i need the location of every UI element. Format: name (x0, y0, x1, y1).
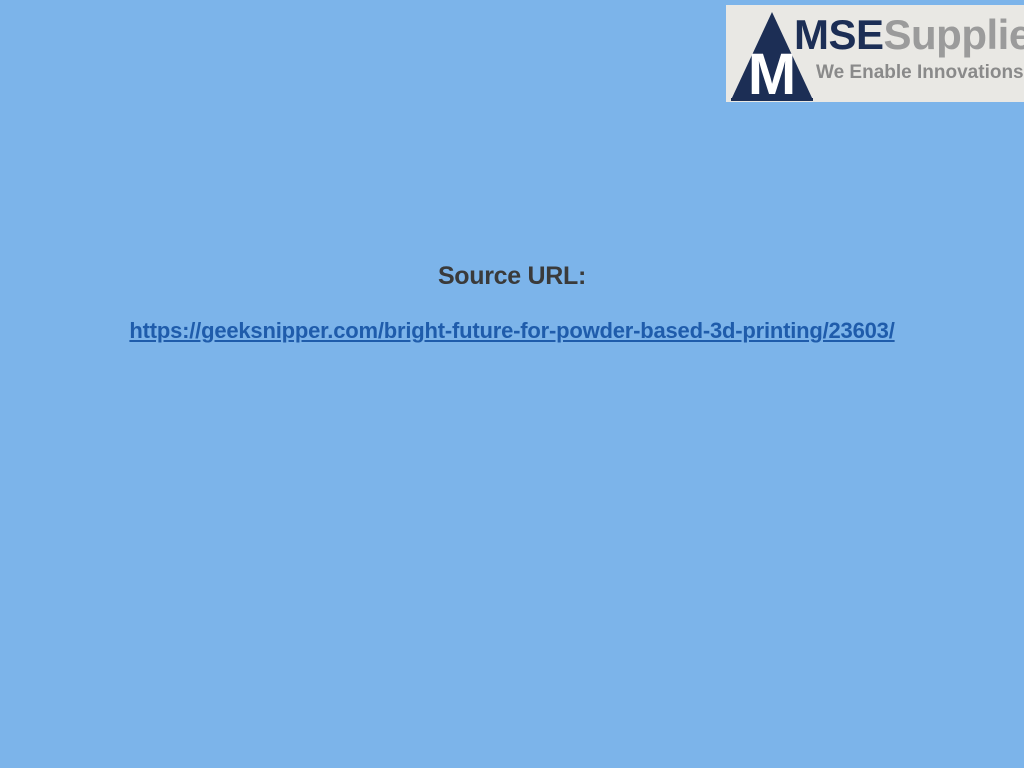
page-title: Source URL: (0, 262, 1024, 291)
source-url-link[interactable]: https://geeksnipper.com/bright-future-fo… (129, 318, 894, 343)
mse-supplies-logo: M MSE Supplies We Enable Innovations (726, 5, 1024, 102)
logo-brand-primary: MSE (794, 11, 884, 59)
logo-wordmark: MSE Supplies (794, 7, 1022, 63)
svg-text:M: M (748, 42, 796, 102)
logo-brand-secondary: Supplies (884, 11, 1024, 59)
source-url-row: https://geeksnipper.com/bright-future-fo… (0, 318, 1024, 344)
slide-canvas: M MSE Supplies We Enable Innovations Sou… (0, 0, 1024, 768)
logo-tagline: We Enable Innovations (816, 62, 1022, 84)
